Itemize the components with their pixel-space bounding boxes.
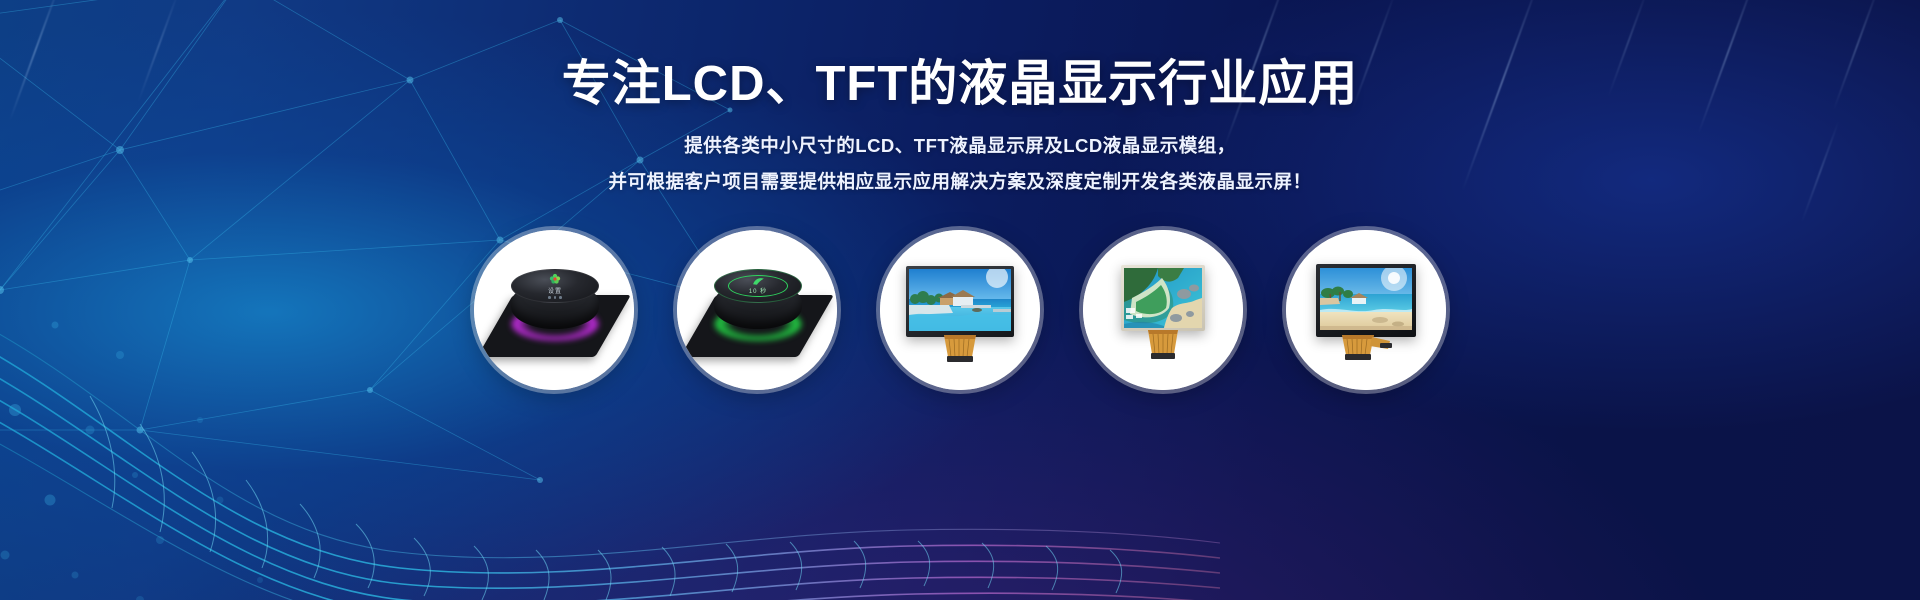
- page-title: 专注LCD、TFT的液晶显示行业应用: [0, 58, 1920, 112]
- flower-icon: [548, 273, 562, 285]
- display-screen: [909, 269, 1011, 331]
- leaf-icon: [752, 277, 765, 286]
- device-top-panel: 设置: [511, 269, 599, 303]
- smart-round-display-green-image: 10 秒: [692, 255, 822, 365]
- display-bezel: [1316, 264, 1416, 337]
- device-indicator-dots: [548, 296, 562, 299]
- product-circle-tft-lcd-capacitive-touch-module[interactable]: [1286, 230, 1446, 390]
- subtitle-line-2: 并可根据客户项目需要提供相应显示应用解决方案及深度定制开发各类液晶显示屏！: [0, 164, 1920, 200]
- device-ring-indicator: 10 秒: [728, 275, 788, 297]
- tft-lcd-capacitive-touch-module-image: [1316, 264, 1416, 363]
- flex-ribbon-cable: [1143, 330, 1183, 360]
- product-circle-smart-round-display-purple[interactable]: 设置: [474, 230, 634, 390]
- product-circle-tft-lcd-square-module[interactable]: [1083, 230, 1243, 390]
- subtitle-line-1: 提供各类中小尺寸的LCD、TFT液晶显示屏及LCD液晶显示模组，: [0, 128, 1920, 164]
- product-showcase-list: 设置: [0, 230, 1920, 430]
- hero-banner: 专注LCD、TFT的液晶显示行业应用 提供各类中小尺寸的LCD、TFT液晶显示屏…: [0, 0, 1920, 600]
- display-bezel: [906, 266, 1014, 337]
- display-screen: [1320, 268, 1412, 330]
- product-circle-tft-lcd-widescreen-module[interactable]: [880, 230, 1040, 390]
- flex-ribbon-cable: [938, 335, 982, 363]
- display-bezel: [1121, 265, 1205, 331]
- display-screen: [1124, 268, 1202, 328]
- tft-lcd-widescreen-module-image: [906, 266, 1014, 363]
- smart-round-display-purple-image: 设置: [489, 255, 619, 365]
- tft-lcd-square-module-image: [1121, 265, 1205, 360]
- flex-ribbon-cable: [1338, 335, 1394, 363]
- device-face-label: 设置: [548, 286, 562, 295]
- product-circle-smart-round-display-green[interactable]: 10 秒: [677, 230, 837, 390]
- device-top-panel: 10 秒: [714, 269, 802, 303]
- banner-copy: 专注LCD、TFT的液晶显示行业应用 提供各类中小尺寸的LCD、TFT液晶显示屏…: [0, 58, 1920, 200]
- banner-subtitle: 提供各类中小尺寸的LCD、TFT液晶显示屏及LCD液晶显示模组， 并可根据客户项…: [0, 128, 1920, 200]
- device-face-label: 10 秒: [749, 286, 767, 295]
